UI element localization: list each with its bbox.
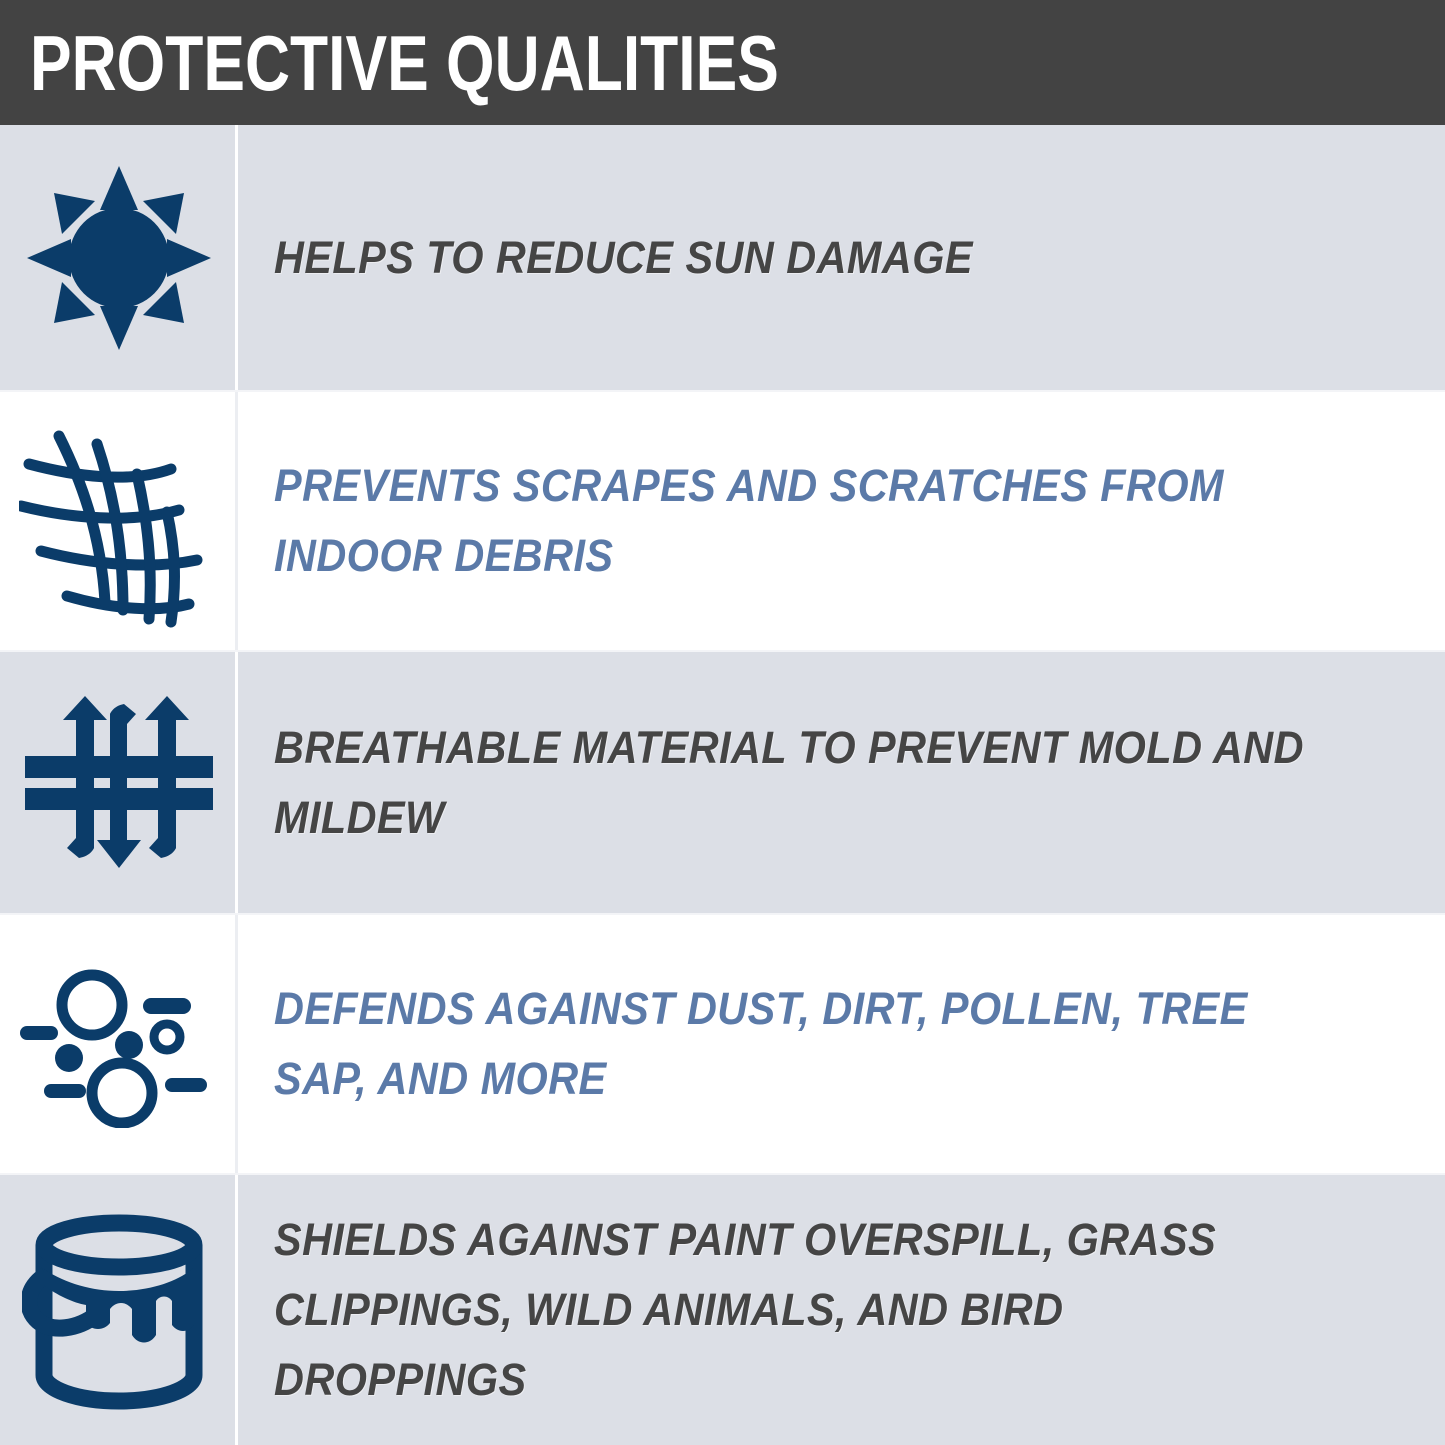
column-divider <box>235 915 238 1173</box>
feature-label-dust-defense: DEFENDS AGAINST DUST, DIRT, POLLEN, TREE… <box>274 974 1318 1114</box>
icon-cell <box>0 652 238 913</box>
page-title: PROTECTIVE QUALITIES <box>30 24 779 102</box>
column-divider <box>235 125 238 390</box>
text-cell: HELPS TO REDUCE SUN DAMAGE <box>238 125 1445 390</box>
text-cell: BREATHABLE MATERIAL TO PREVENT MOLD AND … <box>238 652 1445 913</box>
icon-cell <box>0 915 238 1173</box>
feature-row-breathable: BREATHABLE MATERIAL TO PREVENT MOLD AND … <box>0 652 1445 915</box>
text-cell: PREVENTS SCRAPES AND SCRATCHES FROM INDO… <box>238 392 1445 650</box>
feature-label-sun-damage: HELPS TO REDUCE SUN DAMAGE <box>274 223 973 293</box>
feature-label-paint-shield: SHIELDS AGAINST PAINT OVERSPILL, GRASS C… <box>274 1205 1318 1415</box>
paint-can-icon <box>22 1205 217 1415</box>
protective-qualities-infographic: PROTECTIVE QUALITIES <box>0 0 1445 1445</box>
icon-cell <box>0 392 238 650</box>
feature-label-scrapes-scratches: PREVENTS SCRAPES AND SCRATCHES FROM INDO… <box>274 451 1318 591</box>
text-cell: DEFENDS AGAINST DUST, DIRT, POLLEN, TREE… <box>238 915 1445 1173</box>
icon-cell <box>0 1175 238 1445</box>
feature-list: HELPS TO REDUCE SUN DAMAGE <box>0 125 1445 1445</box>
scratches-icon <box>19 414 219 629</box>
dust-particles-icon <box>17 960 222 1128</box>
feature-label-breathable: BREATHABLE MATERIAL TO PREVENT MOLD AND … <box>274 713 1318 853</box>
icon-cell <box>0 125 238 390</box>
sun-icon <box>19 158 219 358</box>
column-divider <box>235 1175 238 1445</box>
feature-row-sun-damage: HELPS TO REDUCE SUN DAMAGE <box>0 125 1445 392</box>
feature-row-scrapes-scratches: PREVENTS SCRAPES AND SCRATCHES FROM INDO… <box>0 392 1445 652</box>
breathable-airflow-icon <box>19 688 219 878</box>
feature-row-paint-shield: SHIELDS AGAINST PAINT OVERSPILL, GRASS C… <box>0 1175 1445 1445</box>
feature-row-dust-defense: DEFENDS AGAINST DUST, DIRT, POLLEN, TREE… <box>0 915 1445 1175</box>
header-bar: PROTECTIVE QUALITIES <box>0 0 1445 125</box>
column-divider <box>235 392 238 650</box>
text-cell: SHIELDS AGAINST PAINT OVERSPILL, GRASS C… <box>238 1175 1445 1445</box>
column-divider <box>235 652 238 913</box>
